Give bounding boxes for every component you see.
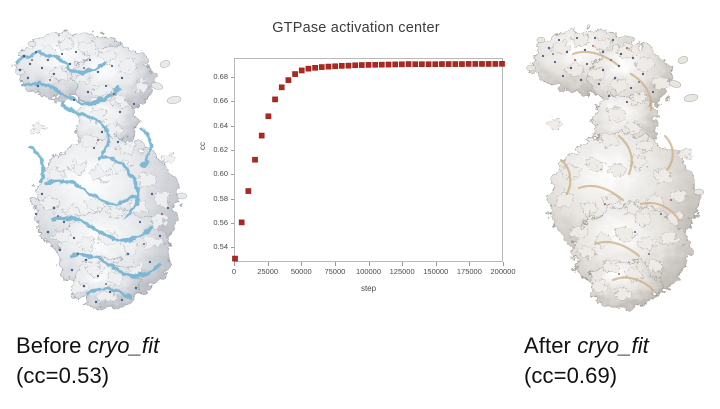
data-point — [446, 61, 451, 66]
structure-image-after — [515, 8, 720, 318]
x-tick-mark — [301, 262, 302, 266]
data-point — [366, 62, 371, 67]
structure-image-before — [2, 8, 207, 318]
caption-after-title: After cryo_fit — [524, 331, 649, 361]
caption-after: After cryo_fit(cc=0.69) — [524, 331, 649, 391]
x-tick-mark — [369, 262, 370, 266]
data-point — [419, 62, 424, 67]
data-point — [379, 62, 384, 67]
data-point — [259, 133, 264, 138]
data-point — [272, 97, 277, 102]
data-point — [239, 220, 244, 225]
data-point — [413, 62, 418, 67]
y-tick-label: 0.54 — [188, 242, 228, 251]
x-tick-mark — [268, 262, 269, 266]
y-tick-label: 0.60 — [188, 169, 228, 178]
y-tick-mark — [231, 126, 235, 127]
y-tick-mark — [231, 199, 235, 200]
x-tick-label: 200000 — [479, 267, 527, 276]
caption-before-prefix: Before — [16, 333, 88, 358]
data-point — [479, 61, 484, 66]
data-point — [286, 78, 291, 83]
density-render-before — [2, 8, 207, 318]
data-point — [306, 66, 311, 71]
y-tick-label: 0.66 — [188, 96, 228, 105]
y-tick-mark — [231, 101, 235, 102]
data-point — [266, 114, 271, 119]
x-tick-mark — [436, 262, 437, 266]
x-axis-label: step — [234, 284, 503, 293]
plot-area — [234, 58, 503, 262]
caption-before-cc-value: (cc=0.53) — [16, 361, 159, 391]
data-point — [299, 68, 304, 73]
x-tick-mark — [402, 262, 403, 266]
data-point — [433, 62, 438, 67]
y-tick-label: 0.56 — [188, 218, 228, 227]
data-point — [406, 61, 411, 66]
caption-before: Before cryo_fit(cc=0.53) — [16, 331, 159, 391]
data-point — [279, 85, 284, 90]
y-tick-mark — [231, 77, 235, 78]
y-tick-label: 0.58 — [188, 194, 228, 203]
data-point — [346, 63, 351, 68]
data-point — [359, 62, 364, 67]
data-point — [313, 65, 318, 70]
data-point — [246, 188, 251, 193]
density-render-after — [515, 8, 720, 318]
data-point — [292, 71, 297, 76]
cc-vs-step-chart: GTPase activation center cc step 0.540.5… — [200, 12, 512, 300]
y-tick-mark — [231, 174, 235, 175]
data-point — [486, 61, 491, 66]
scatter-series-cc — [235, 59, 502, 261]
data-point — [393, 62, 398, 67]
data-point — [493, 61, 498, 66]
data-point — [339, 63, 344, 68]
data-point — [453, 61, 458, 66]
data-point — [426, 62, 431, 67]
y-tick-mark — [231, 223, 235, 224]
y-tick-label: 0.64 — [188, 121, 228, 130]
data-point — [232, 256, 237, 261]
y-tick-label: 0.62 — [188, 145, 228, 154]
data-point — [459, 61, 464, 66]
data-point — [326, 64, 331, 69]
data-point — [466, 61, 471, 66]
data-point — [373, 62, 378, 67]
y-tick-mark — [231, 150, 235, 151]
chart-title: GTPase activation center — [200, 20, 512, 36]
y-tick-label: 0.68 — [188, 72, 228, 81]
data-point — [353, 63, 358, 68]
data-point — [252, 157, 257, 162]
data-point — [399, 62, 404, 67]
caption-after-tool-name: cryo_fit — [577, 333, 649, 358]
data-point — [473, 61, 478, 66]
x-tick-mark — [335, 262, 336, 266]
caption-before-tool-name: cryo_fit — [88, 333, 160, 358]
data-point — [386, 62, 391, 67]
data-point — [499, 61, 504, 66]
y-tick-mark — [231, 247, 235, 248]
x-tick-mark — [234, 262, 235, 266]
x-tick-mark — [503, 262, 504, 266]
data-point — [439, 61, 444, 66]
x-tick-mark — [469, 262, 470, 266]
caption-after-prefix: After — [524, 333, 577, 358]
caption-after-cc-value: (cc=0.69) — [524, 361, 649, 391]
data-point — [319, 65, 324, 70]
caption-before-title: Before cryo_fit — [16, 331, 159, 361]
data-point — [333, 64, 338, 69]
